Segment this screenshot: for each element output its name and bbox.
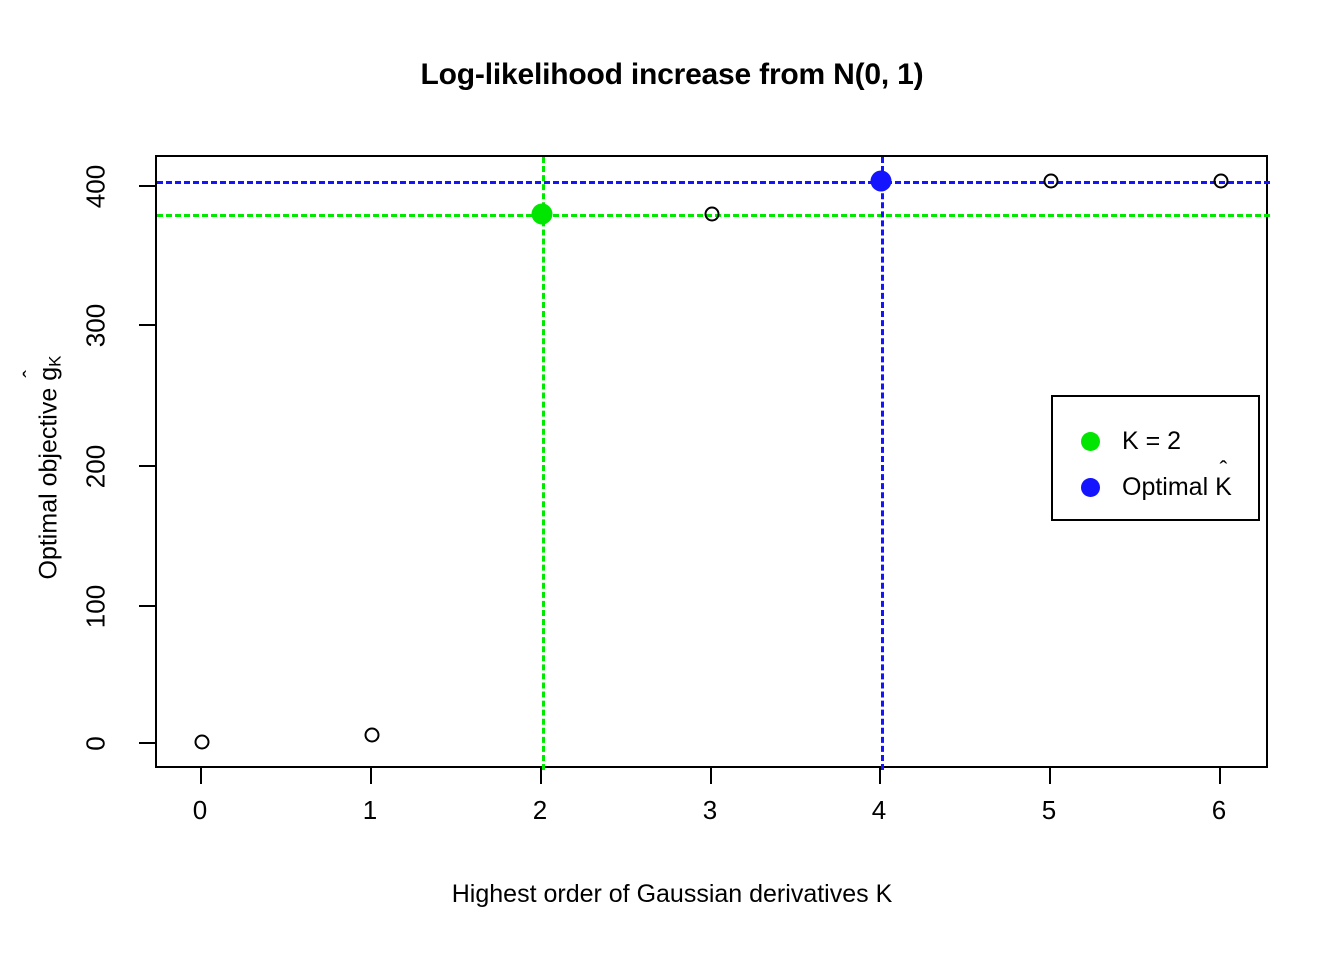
y-axis-tick — [139, 324, 155, 326]
legend-label-k2: K = 2 — [1122, 427, 1181, 456]
x-axis-tick — [200, 768, 202, 784]
y-axis-tick — [139, 465, 155, 467]
data-point — [705, 207, 720, 222]
reference-line-k2-vertical — [542, 157, 545, 770]
y-axis-tick-label: 300 — [81, 296, 112, 356]
x-axis-tick-label: 3 — [703, 795, 717, 826]
x-axis-tick-label: 4 — [872, 795, 886, 826]
hat-accent-k: ˆ — [1220, 458, 1228, 481]
y-axis-tick — [139, 605, 155, 607]
data-point-optimal — [871, 171, 892, 192]
x-axis-tick — [710, 768, 712, 784]
x-axis-tick — [370, 768, 372, 784]
y-axis-tick — [139, 742, 155, 744]
x-axis-title: Highest order of Gaussian derivatives K — [0, 880, 1344, 909]
reference-line-optimal-vertical — [881, 157, 884, 770]
y-axis-tick-label: 400 — [81, 157, 112, 217]
reference-line-optimal-horizontal — [157, 181, 1270, 184]
y-axis-tick-label: 100 — [81, 577, 112, 637]
y-axis-tick — [139, 185, 155, 187]
x-axis-tick-label: 1 — [363, 795, 377, 826]
x-axis-tick — [1049, 768, 1051, 784]
y-axis-title-prefix: Optimal objective — [35, 381, 63, 580]
x-axis-tick — [1219, 768, 1221, 784]
legend-label-optimal: Optimal ˆK — [1122, 473, 1232, 502]
x-axis-tick-label: 2 — [533, 795, 547, 826]
x-axis-tick — [879, 768, 881, 784]
y-axis-tick-label: 200 — [81, 437, 112, 497]
x-axis-tick-label: 5 — [1042, 795, 1056, 826]
legend-label-optimal-prefix: Optimal — [1122, 473, 1215, 501]
legend-dot-green-icon — [1081, 432, 1100, 451]
hat-accent-g: ˆ — [21, 370, 44, 378]
data-point — [365, 728, 380, 743]
data-point — [1044, 174, 1059, 189]
page-title: Log-likelihood increase from N(0, 1) — [0, 58, 1344, 92]
x-axis-tick-label: 0 — [193, 795, 207, 826]
legend-dot-blue-icon — [1081, 478, 1100, 497]
x-axis-tick-label: 6 — [1212, 795, 1226, 826]
y-axis-title: Optimal objective ˆgK — [35, 188, 66, 748]
legend-item-optimal: Optimal ˆK — [1053, 465, 1262, 509]
data-point — [1214, 174, 1229, 189]
y-axis-title-subscript: K — [46, 356, 65, 367]
data-point-k2 — [532, 204, 553, 225]
chart-canvas: Log-likelihood increase from N(0, 1) 0 1… — [0, 0, 1344, 960]
x-axis-tick — [540, 768, 542, 784]
y-axis-tick-label: 0 — [81, 714, 112, 774]
legend: K = 2 Optimal ˆK — [1051, 395, 1260, 521]
legend-item-k2: K = 2 — [1053, 419, 1262, 463]
data-point — [195, 735, 210, 750]
